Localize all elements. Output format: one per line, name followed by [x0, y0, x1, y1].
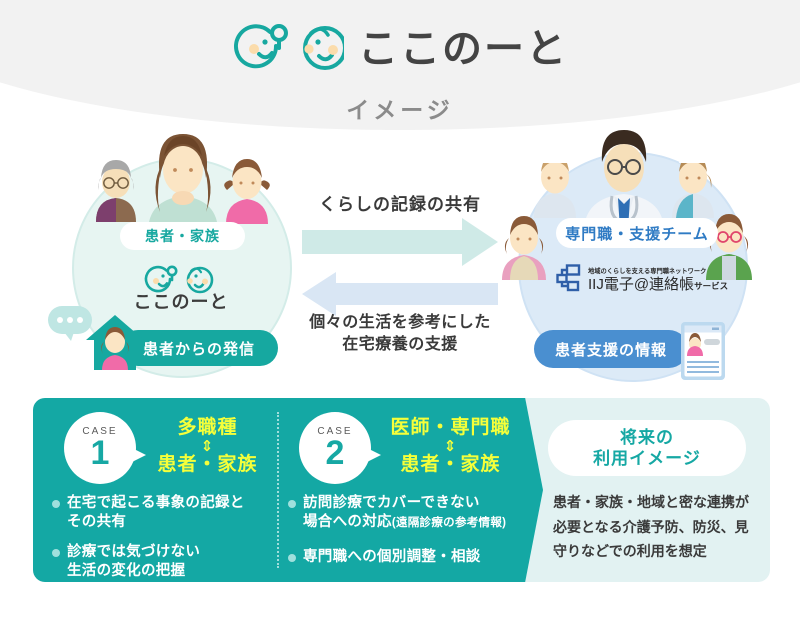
page-header: ここのーと イメージ [0, 18, 800, 125]
patient-family-pill-label: 患者・家族 [145, 226, 220, 246]
caregiver-avatar [496, 208, 552, 280]
case-1-bullets: 在宅で起こる事象の記録と その共有 診療では気づけない 生活の変化の把握 [52, 494, 270, 582]
page-title: ここのーと [358, 29, 568, 69]
case-1-bullet-2-line1: 診療では気づけない [67, 544, 200, 560]
future-usage-body-line2: 必要となる介護予防、防災、見 [553, 519, 749, 535]
case-1-badge-number: 1 [91, 436, 110, 470]
case-2-bullet-1-line2: 場合への対応 [303, 514, 392, 530]
girl-avatar [218, 152, 276, 224]
case-1-bullet-1-line2: その共有 [67, 514, 126, 530]
home-care-support-line1: 個々の生活を参考にした [309, 314, 491, 331]
future-usage-pill-line1: 将来の [620, 427, 674, 448]
case-1-bullet-2: 診療では気づけない 生活の変化の把握 [52, 543, 270, 581]
tablet-record-icon [681, 322, 725, 380]
network-nodes-icon [556, 264, 582, 297]
patient-broadcast-label: 患者からの発信 [143, 338, 255, 359]
case-1-title: 多職種 ⇕ 患者・家族 [145, 418, 270, 475]
infographic-canvas: ここのーと イメージ [0, 0, 800, 620]
patient-family-pill: 患者・家族 [120, 222, 245, 250]
case-2-title: 医師・専門職 ⇕ 患者・家族 [378, 418, 523, 475]
future-usage-pill-line2: 利用イメージ [593, 448, 701, 469]
iij-service-suffix: サービス [694, 281, 728, 291]
case-2-bullet-2-line1: 専門職への個別調整・相談 [303, 549, 481, 565]
arrow-right-icon [302, 218, 498, 271]
future-usage-pill: 将来の 利用イメージ [548, 420, 746, 476]
future-usage-body-line1: 患者・家族・地域と密な連携が [553, 494, 749, 510]
case-1-title-arrow: ⇕ [145, 439, 270, 454]
case-2-bullets: 訪問診療でカバーできない 場合への対応(遠隔診療の参考情報) 専門職への個別調整… [288, 494, 516, 567]
case-1-title-top: 多職種 [177, 417, 237, 438]
kokonote-logo-icon [232, 18, 344, 79]
case-2-title-arrow: ⇕ [378, 439, 523, 454]
case-2-bullet-1: 訪問診療でカバーできない 場合への対応(遠隔診療の参考情報) [288, 494, 516, 532]
case-2-title-bottom: 患者・家族 [400, 454, 500, 475]
page-subtitle: イメージ [0, 91, 800, 125]
house-with-person-icon [84, 312, 146, 374]
home-care-support-label: 個々の生活を参考にした 在宅療養の支援 [290, 312, 510, 355]
case-2-badge: CASE 2 [299, 412, 371, 484]
case-2-title-top: 医師・専門職 [390, 417, 510, 438]
elder-woman-avatar [88, 152, 144, 222]
case-2-badge-number: 2 [326, 436, 345, 470]
adult-woman-avatar [140, 126, 226, 232]
kokonote-caption: ここのーと [96, 288, 266, 314]
professional-team-pill-label: 専門職・支援チーム [565, 223, 709, 244]
future-usage-body-line3: 守りなどでの利用を想定 [553, 543, 707, 559]
case-1-bullet-2-line2: 生活の変化の把握 [67, 563, 185, 579]
case-1-badge: CASE 1 [64, 412, 136, 484]
case-divider [277, 412, 279, 568]
iij-service-logo: 地域のくらしを支える専門職ネットワーク IIJ電子@連絡帳サービス [556, 264, 716, 297]
patient-support-info-bar: 患者支援の情報 [534, 330, 688, 368]
share-record-label: くらしの記録の共有 [300, 190, 500, 215]
doctor-avatar [578, 124, 670, 232]
patient-support-info-label: 患者支援の情報 [555, 339, 667, 360]
case-1-bullet-1: 在宅で起こる事象の記録と その共有 [52, 494, 270, 532]
case-1-bullet-1-line1: 在宅で起こる事象の記録と [67, 495, 245, 511]
future-usage-body: 患者・家族・地域と密な連携が 必要となる介護予防、防災、見 守りなどでの利用を想… [553, 490, 749, 564]
home-care-support-line2: 在宅療養の支援 [342, 336, 458, 353]
case-2-bullet-2: 専門職への個別調整・相談 [288, 548, 516, 567]
case-2-bullet-1-small: (遠隔診療の参考情報) [392, 517, 506, 529]
professional-team-pill: 専門職・支援チーム [556, 218, 718, 248]
case-1-title-bottom: 患者・家族 [157, 454, 257, 475]
iij-tagline: 地域のくらしを支える専門職ネットワーク [588, 269, 722, 276]
case-2-bullet-1-line1: 訪問診療でカバーできない [303, 495, 480, 511]
iij-service-name: IIJ電子@連絡帳 [588, 276, 694, 293]
